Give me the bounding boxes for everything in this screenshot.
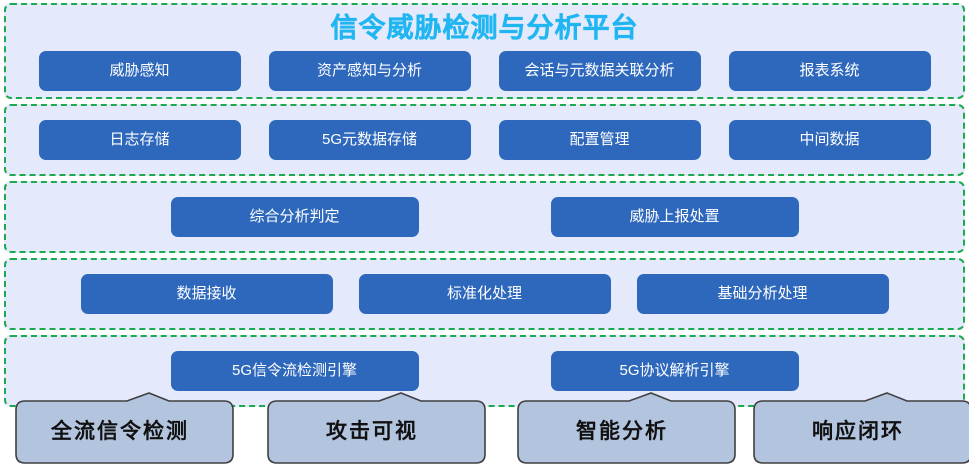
layer-panel-application: 信令威胁检测与分析平台 威胁感知 资产感知与分析 会话与元数据关联分析 报表系统 (4, 3, 965, 99)
capability-banner-attack-visualization[interactable]: 攻击可视 (258, 392, 486, 465)
layer-panel-processing: 数据接收 标准化处理 基础分析处理 (4, 258, 965, 330)
architecture-stack: 信令威胁检测与分析平台 威胁感知 资产感知与分析 会话与元数据关联分析 报表系统… (4, 3, 965, 412)
module-button-standardization-processing[interactable]: 标准化处理 (359, 274, 611, 314)
layer-button-row-storage: 日志存储 5G元数据存储 配置管理 中间数据 (6, 120, 963, 160)
module-button-threat-awareness[interactable]: 威胁感知 (39, 51, 241, 91)
banner-shape-icon (258, 392, 486, 465)
module-button-5g-metadata-storage[interactable]: 5G元数据存储 (269, 120, 471, 160)
module-button-data-reception[interactable]: 数据接收 (81, 274, 333, 314)
layer-button-row-application: 威胁感知 资产感知与分析 会话与元数据关联分析 报表系统 (6, 51, 963, 91)
banner-shape-icon (6, 392, 234, 465)
banner-shape-icon (508, 392, 736, 465)
layer-button-row-decision: 综合分析判定 威胁上报处置 (6, 197, 963, 237)
layer-panel-storage: 日志存储 5G元数据存储 配置管理 中间数据 (4, 104, 965, 176)
module-button-log-storage[interactable]: 日志存储 (39, 120, 241, 160)
capability-banner-row: 全流信令检测 攻击可视 智能分析 响应闭环 (4, 392, 965, 465)
module-button-asset-awareness-analysis[interactable]: 资产感知与分析 (269, 51, 471, 91)
page-title: 信令威胁检测与分析平台 (6, 11, 963, 45)
module-button-intermediate-data[interactable]: 中间数据 (729, 120, 931, 160)
module-button-comprehensive-analysis-decision[interactable]: 综合分析判定 (171, 197, 419, 237)
capability-banner-intelligent-analysis[interactable]: 智能分析 (508, 392, 736, 465)
module-button-basic-analysis-processing[interactable]: 基础分析处理 (637, 274, 889, 314)
module-button-report-system[interactable]: 报表系统 (729, 51, 931, 91)
capability-banner-full-flow-signaling-detection[interactable]: 全流信令检测 (6, 392, 234, 465)
banner-shape-icon (744, 392, 969, 465)
layer-button-row-processing: 数据接收 标准化处理 基础分析处理 (6, 274, 963, 314)
layer-button-row-engine: 5G信令流检测引擎 5G协议解析引擎 (6, 351, 963, 391)
capability-banner-response-closed-loop[interactable]: 响应闭环 (744, 392, 969, 465)
module-button-session-metadata-correlation[interactable]: 会话与元数据关联分析 (499, 51, 701, 91)
layer-panel-decision: 综合分析判定 威胁上报处置 (4, 181, 965, 253)
module-button-config-management[interactable]: 配置管理 (499, 120, 701, 160)
module-button-5g-protocol-parsing-engine[interactable]: 5G协议解析引擎 (551, 351, 799, 391)
module-button-5g-signaling-flow-detection-engine[interactable]: 5G信令流检测引擎 (171, 351, 419, 391)
module-button-threat-reporting-disposal[interactable]: 威胁上报处置 (551, 197, 799, 237)
